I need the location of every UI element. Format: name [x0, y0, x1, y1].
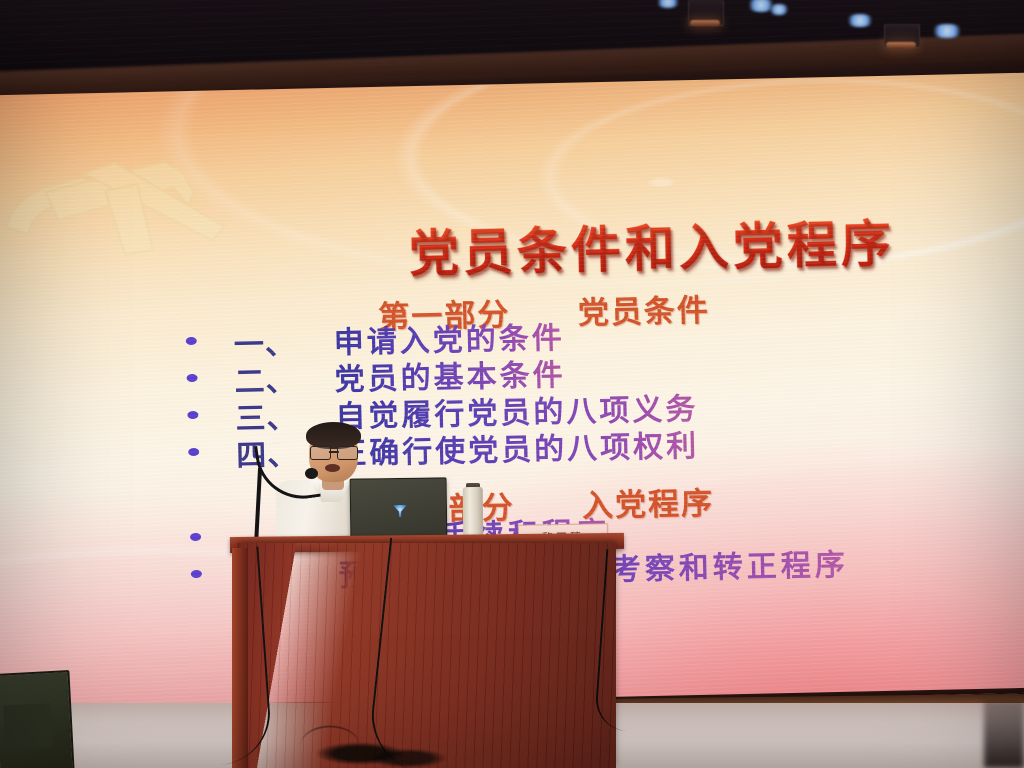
item-text: 自觉履行党员的八项义务	[335, 384, 699, 436]
monitor-grille	[3, 703, 53, 749]
hammer-and-sickle-party-emblem-icon	[0, 130, 239, 285]
speaker-hair	[306, 422, 361, 449]
stage-monitor-speaker	[0, 670, 75, 768]
presentation-photo: 党员条件和入党程序 第一部分 党员条件 一、 申请入党的条件 二、 党员的基本条…	[0, 0, 1024, 768]
laptop[interactable]	[350, 477, 448, 542]
bullet-dot-icon	[190, 533, 201, 541]
list-item: 二、 预备党员的教育、考察和转正程序	[190, 556, 191, 593]
warm-stage-light-2	[886, 42, 916, 48]
bullet-dot-icon	[188, 448, 199, 456]
item-number: 二、	[234, 356, 297, 401]
item-number: 一、	[233, 319, 296, 364]
bullet-dot-icon	[186, 337, 197, 345]
section-2-bullet-list: 一、 入党的手续和程序 二、 预备党员的教育、考察和转正程序	[190, 519, 192, 593]
list-item: 三、 自觉履行党员的八项义务	[187, 397, 188, 434]
section-1-label: 第一部分	[378, 297, 511, 336]
section-1-bullet-list: 一、 申请入党的条件 二、 党员的基本条件 三、 自觉履行党员的八项义务 四、 …	[185, 323, 188, 471]
list-item: 二、 党员的基本条件	[186, 360, 187, 397]
slide-title: 党员条件和入党程序	[408, 204, 895, 287]
floor-shadow-right	[984, 700, 1024, 768]
cable-bundle	[300, 726, 450, 768]
speaker-mouth	[325, 464, 340, 472]
list-item: 一、 申请入党的条件	[185, 323, 186, 360]
eyeglasses-icon	[309, 446, 359, 458]
cool-stage-light-3	[768, 4, 790, 15]
section-2-name: 入党程序	[582, 486, 715, 525]
section-1-name: 党员条件	[577, 293, 710, 332]
item-text: 申请入党的条件	[333, 313, 565, 362]
bullet-dot-icon	[191, 570, 202, 578]
list-item: 四、 正确行使党员的八项权利	[188, 434, 189, 471]
section-1-heading: 第一部分 党员条件	[378, 285, 710, 337]
bullet-dot-icon	[186, 374, 197, 382]
microphone-icon	[305, 468, 318, 479]
bullet-dot-icon	[187, 411, 198, 419]
warm-stage-light-1	[690, 20, 720, 26]
cool-stage-light-4	[845, 14, 875, 27]
item-text: 正确行使党员的八项权利	[336, 421, 700, 473]
item-text: 党员的基本条件	[334, 350, 566, 399]
section-2-spacer	[527, 517, 569, 518]
legion-y-logo-icon	[393, 505, 407, 517]
cool-stage-light-5	[930, 24, 964, 38]
list-item: 一、 入党的手续和程序	[190, 519, 191, 556]
section-1-spacer	[523, 324, 565, 325]
